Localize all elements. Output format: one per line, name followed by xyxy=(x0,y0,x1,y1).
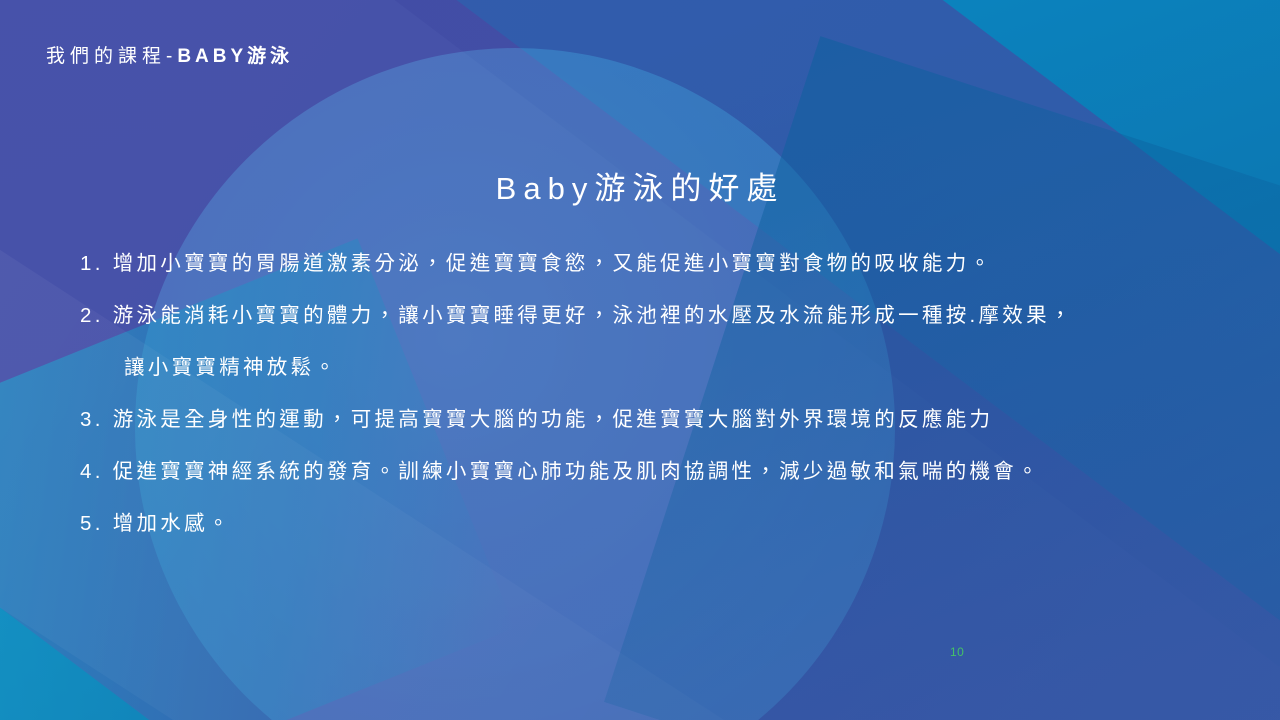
list-item-number: 2. xyxy=(80,304,104,327)
list-item-number: 4. xyxy=(80,460,104,483)
list-item: 5. 增加水感。 xyxy=(80,498,1220,550)
list-item-number: 5. xyxy=(80,512,104,535)
header-title-emphasis: BABY游泳 xyxy=(177,46,293,67)
list-item: 3. 游泳是全身性的運動，可提高寶寶大腦的功能，促進寶寶大腦對外界環境的反應能力 xyxy=(80,394,1220,446)
slide-content: 我們的課程-BABY游泳 Baby游泳的好處 1. 增加小寶寶的胃腸道激素分泌，… xyxy=(0,0,1280,720)
list-item-number: 3. xyxy=(80,408,104,431)
header-title-plain: 我們的課程- xyxy=(46,46,177,67)
list-item-text: 增加小寶寶的胃腸道激素分泌，促進寶寶食慾，又能促進小寶寶對食物的吸收能力。 xyxy=(113,252,994,275)
list-item-text: 游泳能消耗小寶寶的體力，讓小寶寶睡得更好，泳池裡的水壓及水流能形成一種按.摩效果… xyxy=(113,304,1074,327)
page-title: Baby游泳的好處 xyxy=(0,163,1280,208)
benefits-list: 1. 增加小寶寶的胃腸道激素分泌，促進寶寶食慾，又能促進小寶寶對食物的吸收能力。… xyxy=(80,238,1220,550)
list-item-text: 游泳是全身性的運動，可提高寶寶大腦的功能，促進寶寶大腦對外界環境的反應能力 xyxy=(113,408,994,431)
presentation-slide: 我們的課程-BABY游泳 Baby游泳的好處 1. 增加小寶寶的胃腸道激素分泌，… xyxy=(0,0,1280,720)
slide-header-title: 我們的課程-BABY游泳 xyxy=(46,41,293,68)
list-item: 4. 促進寶寶神經系統的發育。訓練小寶寶心肺功能及肌肉協調性，減少過敏和氣喘的機… xyxy=(80,446,1220,498)
list-item-text: 增加水感。 xyxy=(113,512,232,535)
list-item-number: 1. xyxy=(80,252,104,275)
list-item: 1. 增加小寶寶的胃腸道激素分泌，促進寶寶食慾，又能促進小寶寶對食物的吸收能力。 xyxy=(80,238,1220,290)
slide-page-number: 10 xyxy=(950,645,964,659)
list-item-text: 促進寶寶神經系統的發育。訓練小寶寶心肺功能及肌肉協調性，減少過敏和氣喘的機會。 xyxy=(113,460,1041,483)
list-item: 2. 游泳能消耗小寶寶的體力，讓小寶寶睡得更好，泳池裡的水壓及水流能形成一種按.… xyxy=(80,290,1220,394)
list-item-text-continued: 讓小寶寶精神放鬆。 xyxy=(80,342,1220,394)
